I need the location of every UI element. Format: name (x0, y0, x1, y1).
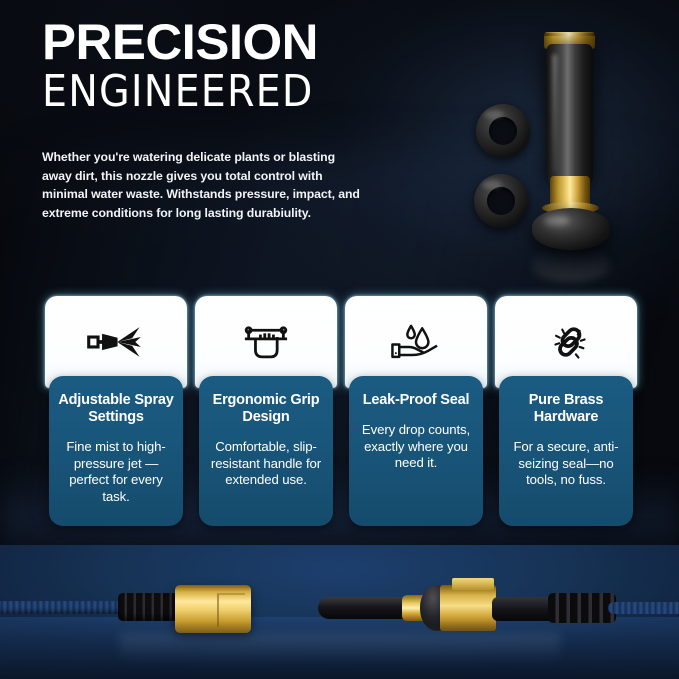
feature-card[interactable]: Pure Brass Hardware For a secure, anti-s… (495, 296, 637, 526)
feature-card-body: Pure Brass Hardware For a secure, anti-s… (499, 376, 633, 526)
brass-coupling-left (175, 585, 251, 633)
expandable-hose-right (608, 602, 679, 614)
strip-reflection (120, 633, 560, 663)
hand-water-drop-icon (345, 296, 487, 388)
nozzle-black-base (532, 208, 610, 250)
hand-grip-icon (195, 296, 337, 388)
body-paragraph: Whether you're watering delicate plants … (42, 148, 362, 223)
feature-card-desc: Fine mist to high-pressure jet — perfect… (57, 439, 175, 506)
feature-card[interactable]: Adjustable Spray Settings Fine mist to h… (45, 296, 187, 526)
bottom-product-strip (0, 545, 679, 679)
washer-ring-bottom (474, 174, 528, 228)
feature-card-row: Adjustable Spray Settings Fine mist to h… (45, 296, 637, 526)
product-nozzle-image (460, 12, 679, 274)
valve-lever (452, 578, 494, 590)
feature-card-desc: Every drop counts, exactly where you nee… (357, 422, 475, 472)
feature-card-title: Adjustable Spray Settings (57, 392, 175, 426)
spray-nozzle-icon (45, 296, 187, 388)
hose-collar-ribs-right (548, 593, 616, 623)
feature-card[interactable]: Ergonomic Grip Design Comfortable, slip-… (195, 296, 337, 526)
feature-card-body: Ergonomic Grip Design Comfortable, slip-… (199, 376, 333, 526)
feature-card-body: Leak-Proof Seal Every drop counts, exact… (349, 376, 483, 526)
nozzle-reflection (532, 248, 610, 282)
washer-ring-top (476, 104, 530, 158)
chain-link-icon (495, 296, 637, 388)
product-marketing-image: PRECISION ENGINEERED Whether you're wate… (0, 0, 679, 679)
feature-card-body: Adjustable Spray Settings Fine mist to h… (49, 376, 183, 526)
hose-collar-ribs-left (118, 593, 178, 621)
feature-card-title: Ergonomic Grip Design (207, 392, 325, 426)
headline-line-2: ENGINEERED (42, 68, 462, 116)
feature-card[interactable]: Leak-Proof Seal Every drop counts, exact… (345, 296, 487, 526)
brass-shutoff-valve (440, 585, 496, 631)
feature-card-desc: Comfortable, slip-resistant handle for e… (207, 439, 325, 489)
feature-card-desc: For a secure, anti-seizing seal—no tools… (507, 439, 625, 489)
feature-card-title: Pure Brass Hardware (507, 392, 625, 426)
feature-card-title: Leak-Proof Seal (357, 392, 475, 409)
headline-line-1: PRECISION (42, 18, 470, 66)
headline: PRECISION ENGINEERED (42, 18, 462, 116)
nozzle-black-body (546, 44, 593, 184)
